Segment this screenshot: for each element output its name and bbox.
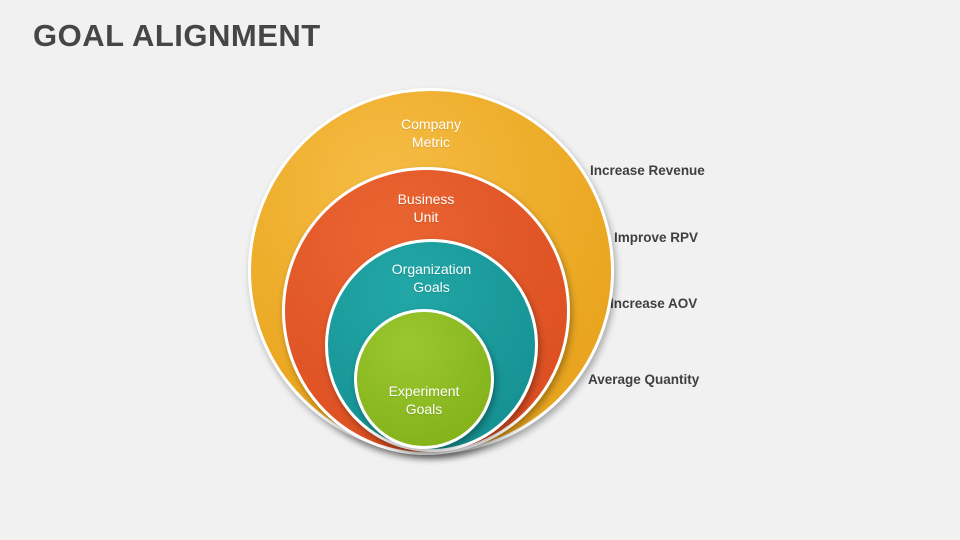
page-title: GOAL ALIGNMENT: [33, 18, 321, 54]
slide-canvas: GOAL ALIGNMENT Company Metric Business U…: [0, 0, 960, 540]
callout-increase-aov: Increase AOV: [610, 296, 697, 311]
circle-label-experiment-goals: Experiment Goals: [389, 382, 460, 418]
circle-experiment-goals[interactable]: Experiment Goals: [354, 309, 494, 449]
callout-average-quantity: Average Quantity: [588, 372, 699, 387]
concentric-circles-diagram: Company Metric Business Unit Organizatio…: [240, 80, 620, 470]
callout-improve-rpv: Improve RPV: [614, 230, 698, 245]
callout-increase-revenue: Increase Revenue: [590, 163, 705, 178]
